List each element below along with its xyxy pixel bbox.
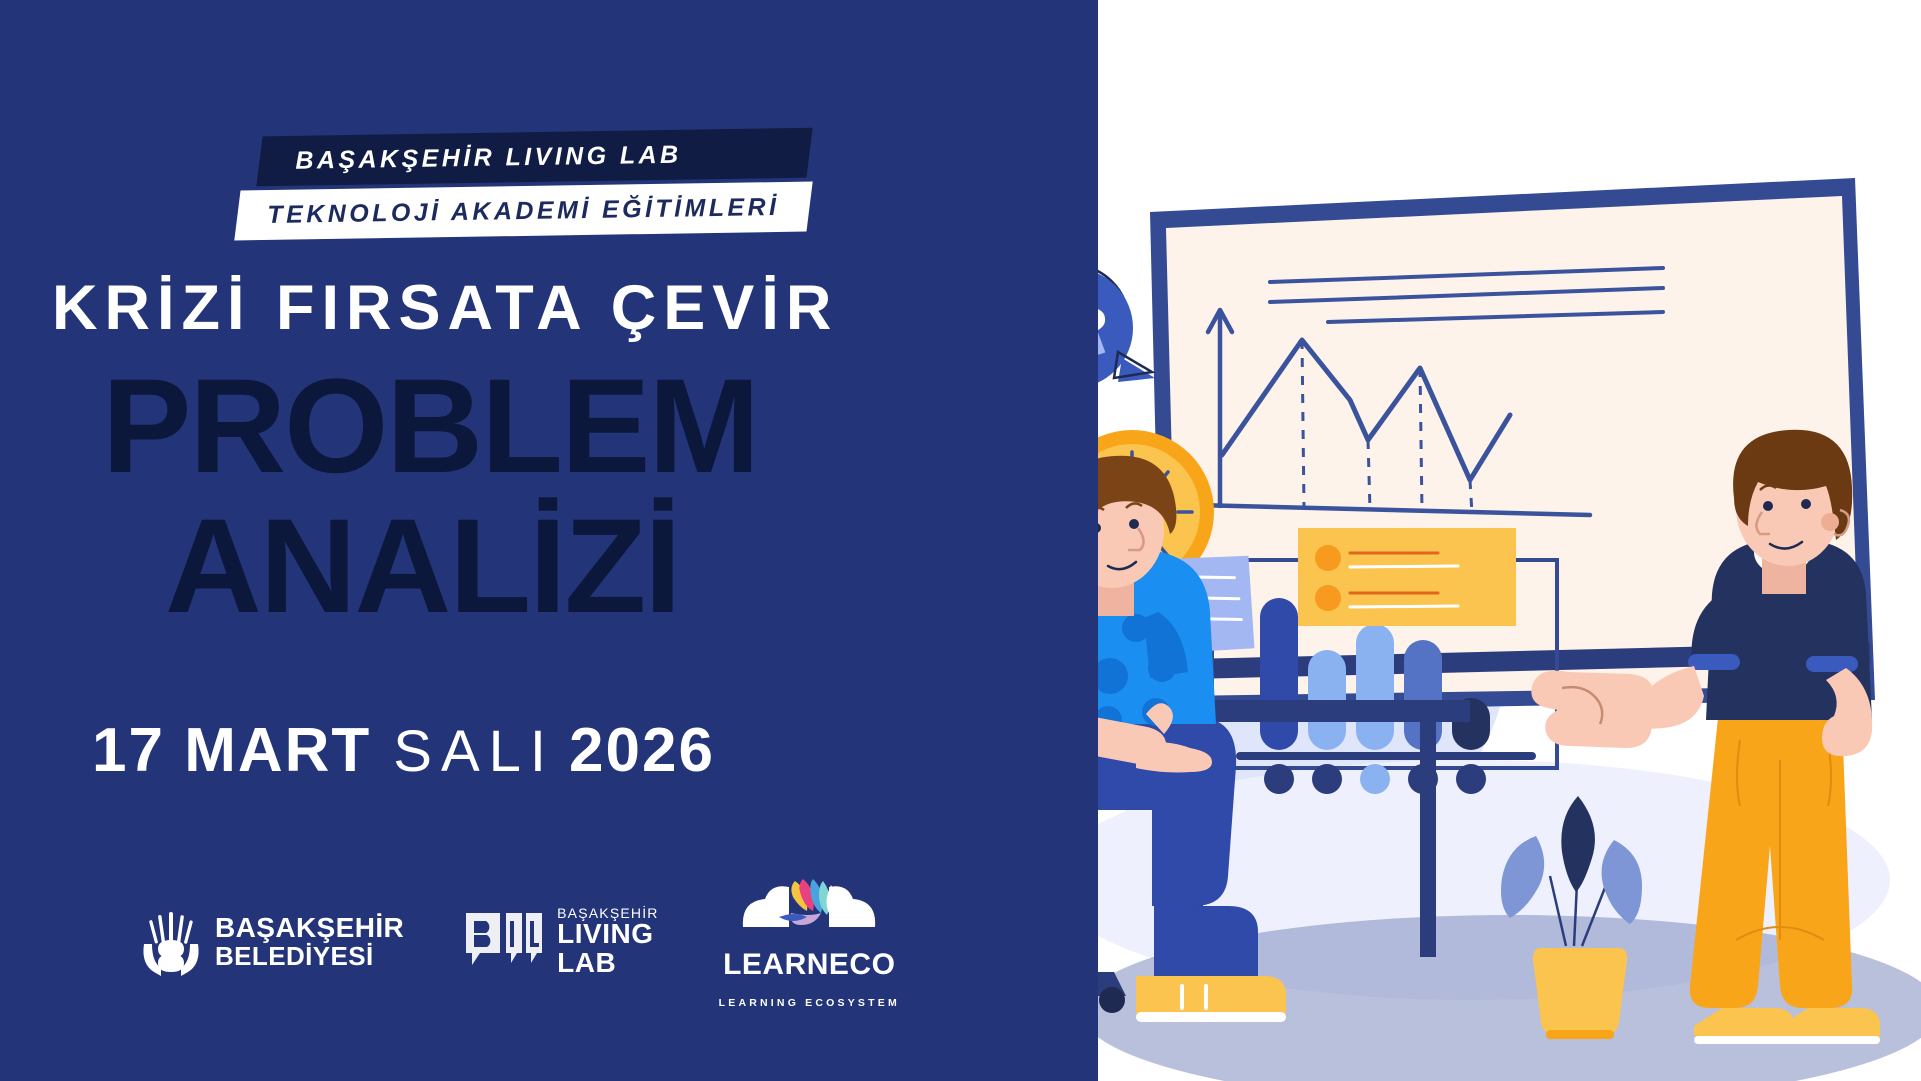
belediyesi-line2: BELEDİYESİ bbox=[215, 943, 404, 970]
date-weekday: SALI bbox=[393, 719, 555, 784]
date-year: 2026 bbox=[569, 716, 715, 785]
headline-title-line1: PROBLEM bbox=[102, 360, 758, 494]
logo-strip: BAŞAKŞEHİR BELEDİYESİ bbox=[140, 875, 900, 1009]
ribbon-teknoloji-akademi: TEKNOLOJİ AKADEMİ EĞİTİMLERİ bbox=[234, 182, 812, 241]
note-bullet-1 bbox=[1315, 545, 1341, 571]
ribbon-teknoloji-akademi-text: TEKNOLOJİ AKADEMİ EĞİTİMLERİ bbox=[267, 193, 779, 230]
thumbs-up-hand bbox=[1531, 671, 1654, 748]
bll-line3: LAB bbox=[557, 949, 658, 978]
headline-kicker: KRİZİ FIRSATA ÇEVİR bbox=[52, 272, 838, 344]
eyebrow-ribbons: BAŞAKŞEHİR LIVING LAB TEKNOLOJİ AKADEMİ … bbox=[246, 132, 809, 236]
yellow-sticky-note bbox=[1298, 528, 1516, 626]
bird-cloud-icon bbox=[733, 875, 885, 935]
bar-3 bbox=[1356, 624, 1394, 750]
date-day: 17 MART bbox=[92, 716, 371, 785]
speech-bubble-bll-icon bbox=[464, 909, 544, 975]
illustration-scene: ?? bbox=[950, 0, 1921, 1081]
logo-basaksehir-living-lab: BAŞAKŞEHİR LIVING LAB bbox=[464, 906, 658, 978]
bubble-question-text: ?? bbox=[1038, 297, 1109, 362]
man-shoe bbox=[1136, 976, 1286, 1014]
bar-1 bbox=[1260, 598, 1298, 750]
note-bullet-2 bbox=[1315, 585, 1341, 611]
logo-basaksehir-belediyesi: BAŞAKŞEHİR BELEDİYESİ bbox=[140, 906, 404, 978]
logo-learneco: LEARNECO LEARNING ECOSYSTEM bbox=[719, 875, 900, 1009]
scribble-doodle bbox=[950, 399, 1077, 600]
wheat-hand-icon bbox=[140, 906, 202, 978]
bar-baseline bbox=[1236, 752, 1536, 760]
plant-pot bbox=[1533, 948, 1627, 1034]
chair-post bbox=[1054, 898, 1068, 972]
event-date: 17 MARTSALI2026 bbox=[92, 715, 715, 786]
learneco-line1: LEARNECO bbox=[723, 948, 895, 982]
learneco-line2: LEARNING ECOSYSTEM bbox=[719, 997, 900, 1009]
poster-root: ?? bbox=[0, 0, 1921, 1081]
man-shin bbox=[1154, 906, 1258, 976]
ribbon-living-lab: BAŞAKŞEHİR LIVING LAB bbox=[256, 128, 812, 187]
flying-paper-top bbox=[950, 251, 1108, 395]
belediyesi-line1: BAŞAKŞEHİR bbox=[215, 914, 404, 943]
ribbon-living-lab-text: BAŞAKŞEHİR LIVING LAB bbox=[295, 141, 682, 176]
desk-leg-right bbox=[1420, 722, 1436, 957]
bll-line2: LIVING bbox=[557, 920, 658, 949]
headline-title-line2: ANALİZİ bbox=[165, 500, 679, 634]
